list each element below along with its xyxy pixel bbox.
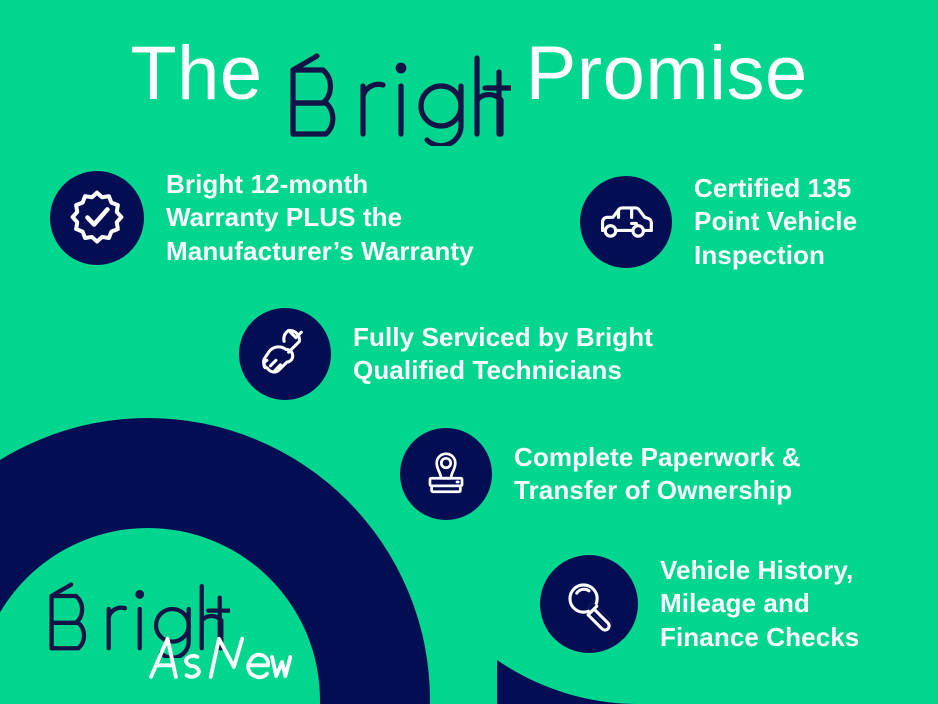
feature-item-checks: Vehicle History, Mileage and Finance Che… <box>540 554 859 654</box>
feature-label: Complete Paperwork & Transfer of Ownersh… <box>514 441 801 508</box>
logo-asnew-wordmark-icon <box>146 630 292 689</box>
brand-logo <box>38 578 298 686</box>
feature-icon-badge <box>50 171 144 265</box>
feature-icon-badge <box>400 428 492 520</box>
feature-icon-badge <box>580 176 672 268</box>
feature-label: Vehicle History, Mileage and Finance Che… <box>660 554 859 654</box>
feature-label: Certified 135 Point Vehicle Inspection <box>694 172 857 272</box>
navy-wedge-shape <box>497 660 640 704</box>
feature-icon-badge <box>540 555 638 653</box>
magnifying-glass-icon <box>560 575 618 633</box>
feature-item-warranty: Bright 12-month Warranty PLUS the Manufa… <box>50 168 474 268</box>
page-title: The <box>0 36 938 146</box>
verified-badge-icon <box>68 189 126 247</box>
hand-wrench-icon <box>256 325 314 383</box>
headline-prefix: The <box>130 36 262 112</box>
feature-label: Bright 12-month Warranty PLUS the Manufa… <box>166 168 474 268</box>
feature-item-inspection: Certified 135 Point Vehicle Inspection <box>580 172 857 272</box>
bright-wordmark-icon <box>277 48 511 150</box>
headline-suffix: Promise <box>526 36 808 112</box>
promise-poster: The <box>0 0 938 704</box>
rubber-stamp-icon <box>419 447 473 501</box>
feature-item-paperwork: Complete Paperwork & Transfer of Ownersh… <box>400 428 801 520</box>
feature-item-servicing: Fully Serviced by Bright Qualified Techn… <box>239 308 653 400</box>
feature-icon-badge <box>239 308 331 400</box>
car-icon <box>596 192 656 252</box>
feature-label: Fully Serviced by Bright Qualified Techn… <box>353 321 653 388</box>
